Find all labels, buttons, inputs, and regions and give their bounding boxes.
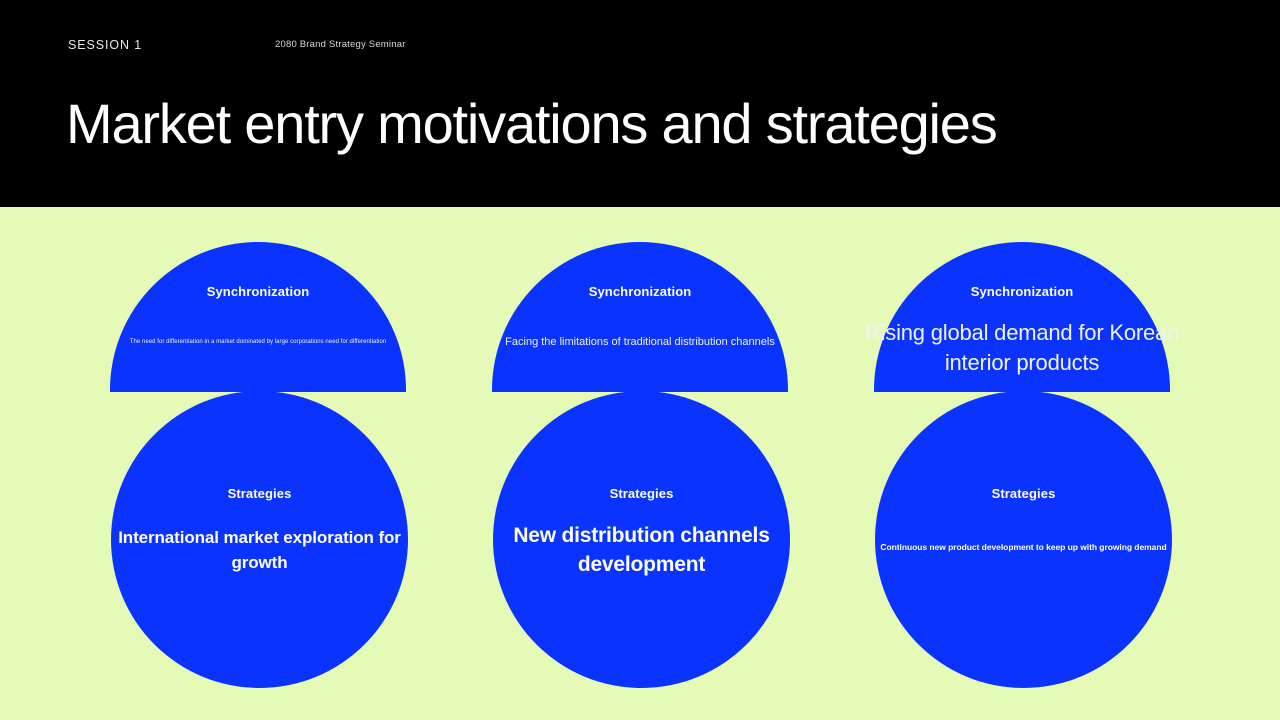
dome-kicker-label-2: Synchronization [492,284,788,300]
diagram-stage: Synchronization The need for differentia… [0,207,1280,720]
strategies-circle-3[interactable]: Strategies Continuous new product develo… [875,391,1172,688]
page-title: Market entry motivations and strategies [66,90,997,158]
diagram-column-2: Synchronization Facing the limitations o… [492,207,788,720]
header-eyebrow-row: SESSION 1 2080 Brand Strategy Seminar [68,36,1208,54]
dome-body-text-1: The need for differentiation in a market… [96,337,420,347]
synchronization-dome-1[interactable]: Synchronization The need for differentia… [110,242,406,392]
orb-kicker-label-2: Strategies [493,486,790,502]
orb-kicker-label-1: Strategies [111,486,408,502]
orb-body-text-3: Continuous new product development to ke… [863,541,1184,554]
dome-kicker-label-1: Synchronization [110,284,406,300]
orb-body-text-1: International market exploration for gro… [99,525,420,575]
synchronization-dome-3[interactable]: Synchronization Rising global demand for… [874,242,1170,392]
strategies-circle-2[interactable]: Strategies New distribution channels dev… [493,391,790,688]
orb-body-text-2: New distribution channels development [479,521,804,579]
diagram-column-1: Synchronization The need for differentia… [110,207,406,720]
dome-body-text-3: Rising global demand for Korean interior… [858,318,1186,378]
slide-header: SESSION 1 2080 Brand Strategy Seminar Ma… [0,0,1280,207]
dome-kicker-label-3: Synchronization [874,284,1170,300]
orb-kicker-label-3: Strategies [875,486,1172,502]
seminar-label: 2080 Brand Strategy Seminar [275,37,406,53]
strategies-circle-1[interactable]: Strategies International market explorat… [111,391,408,688]
dome-body-text-2: Facing the limitations of traditional di… [478,335,802,350]
synchronization-dome-2[interactable]: Synchronization Facing the limitations o… [492,242,788,392]
diagram-column-3: Synchronization Rising global demand for… [874,207,1170,720]
session-label: SESSION 1 [68,36,142,54]
